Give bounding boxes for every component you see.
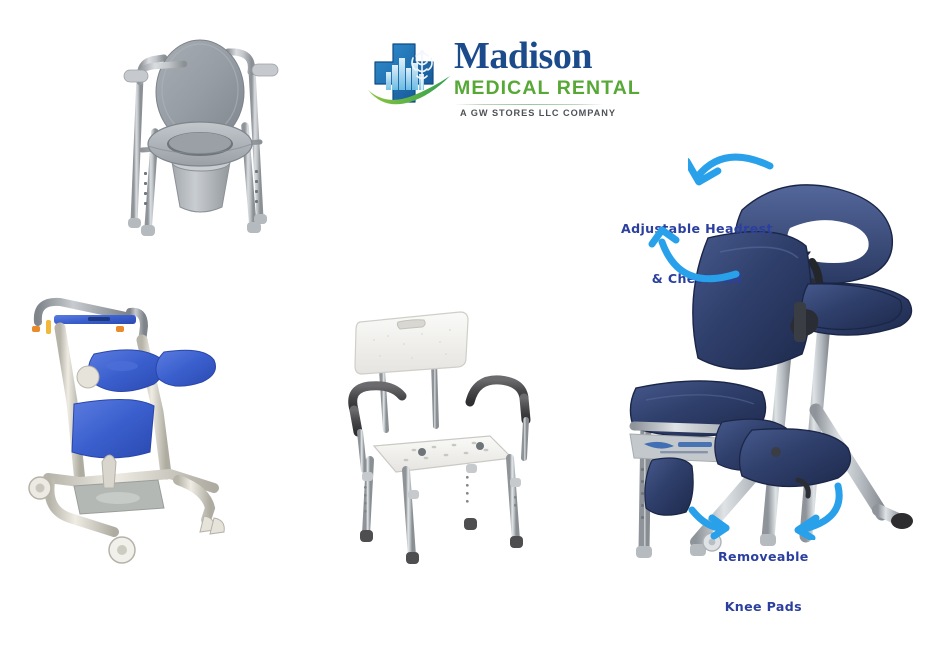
logo-wordmark: Madison MEDICAL RENTAL A GW STORES LLC C… — [454, 36, 578, 128]
logo-primary-name: Madison — [454, 36, 578, 76]
annotation-knee-line2: Knee Pads — [718, 599, 809, 616]
logo-secondary-name: MEDICAL RENTAL — [454, 76, 578, 100]
annotation-knee-pads: Removeable Knee Pads — [718, 516, 809, 648]
promo-canvas: Madison MEDICAL RENTAL A GW STORES LLC C… — [0, 0, 936, 618]
annotation-headrest-line1: Adjustable Headrest — [621, 221, 773, 238]
logo-mark-icon — [366, 38, 452, 118]
brand-logo: Madison MEDICAL RENTAL A GW STORES LLC C… — [366, 36, 578, 132]
product-sit-to-stand-lift — [18, 282, 254, 574]
logo-tagline: A GW STORES LLC COMPANY — [454, 105, 578, 121]
annotation-headrest-line2: & Chest Pad — [621, 271, 773, 288]
annotation-headrest: Adjustable Headrest & Chest Pad — [621, 188, 773, 320]
product-commode-chair — [100, 22, 300, 262]
annotation-knee-line1: Removeable — [718, 549, 809, 566]
product-shower-chair — [330, 300, 562, 572]
